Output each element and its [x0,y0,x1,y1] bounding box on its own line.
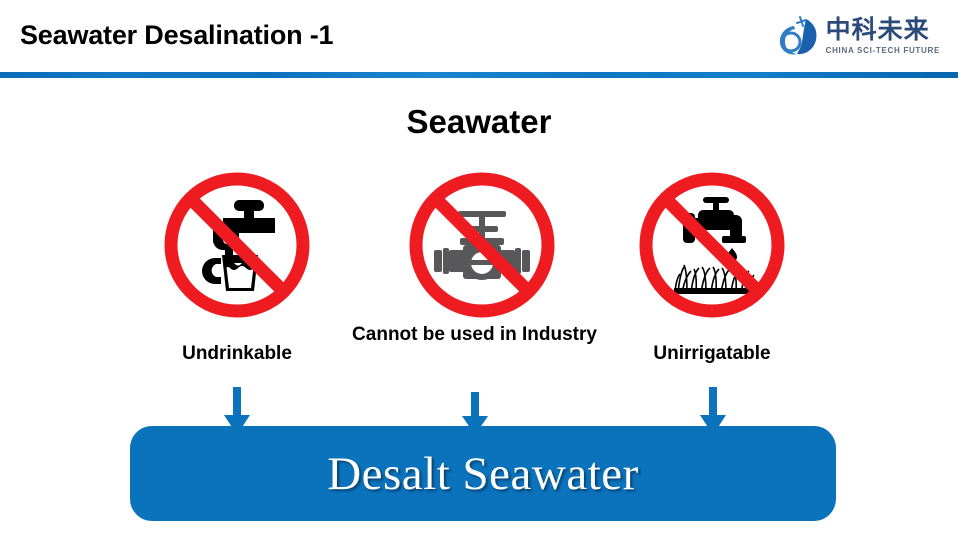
header-divider [0,72,958,78]
company-logo: 中科未来 CHINA SCI-TECH FUTURE [770,8,940,64]
no-industrial-use-icon [408,171,556,319]
prohibition-symbol [408,171,556,319]
caption-undrinkable: Undrinkable [137,341,337,366]
caption-industry: Cannot be used in Industry [352,322,597,347]
logo-english-text: CHINA SCI-TECH FUTURE [826,46,940,55]
desalt-seawater-banner: Desalt Seawater [130,426,836,521]
page-title: Seawater Desalination -1 [20,20,333,51]
prohibition-symbol [638,171,786,319]
logo-swoosh-icon [776,14,820,58]
no-irrigation-icon [638,171,786,319]
no-drinking-water-icon [163,171,311,319]
caption-unirrigatable: Unirrigatable [612,341,812,366]
slide-canvas: Seawater Desalination -1 中科未来 CHINA SCI-… [0,0,958,539]
logo-wordmark: 中科未来 CHINA SCI-TECH FUTURE [826,17,940,54]
prohibition-symbol [163,171,311,319]
banner-label: Desalt Seawater [327,447,639,501]
section-heading: Seawater [0,103,958,141]
logo-chinese-text: 中科未来 [826,17,930,43]
